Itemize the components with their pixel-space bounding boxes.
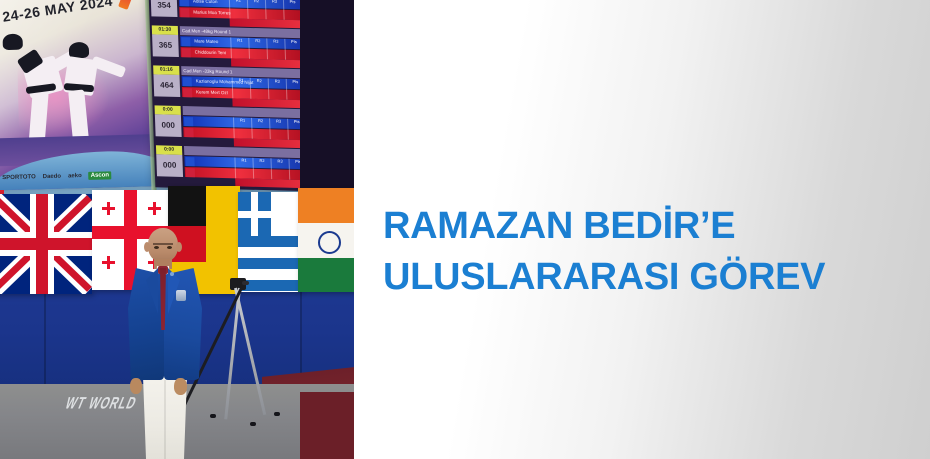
sponsor-logo: Ascon xyxy=(89,171,112,180)
camera-tripod xyxy=(212,280,292,432)
ear xyxy=(176,242,182,252)
headline-panel: RAMAZAN BEDİR’E ULUSLARARASI GÖREV xyxy=(354,0,930,459)
round-score-cells: R1 R2 R3 Pts xyxy=(233,117,306,140)
scoreboard-row: 0:00 000 R1 R2 R3 Pts xyxy=(153,105,307,149)
score-cell: R2 xyxy=(250,78,269,99)
round-score-cells: R1 R2 R3 Pts xyxy=(234,157,307,180)
scoreboard-match-column: 01:16 354 Cad.Men -58kg Round 1 Adise Cu… xyxy=(148,0,307,191)
sponsor-logo: Daedo xyxy=(43,174,61,180)
ear xyxy=(144,242,150,252)
score-cell: R3 xyxy=(266,38,285,59)
score-cell: R1 xyxy=(232,77,251,98)
eyes xyxy=(154,246,172,249)
screen-dark-surround xyxy=(300,0,354,196)
sponsor-logo: aeko xyxy=(68,173,82,179)
page-title: RAMAZAN BEDİR’E ULUSLARARASI GÖREV xyxy=(383,201,903,303)
lapel-pin-icon xyxy=(170,272,174,276)
brow xyxy=(153,243,173,245)
news-card: KWONDO GAMES 24-26 MAY 2024 xyxy=(0,0,930,459)
head xyxy=(148,228,178,262)
scoreboard-row: 01:30 365 Cad.Men -48kg Round 1 Mare Mat… xyxy=(150,25,304,69)
red-flag-icon xyxy=(183,88,192,97)
scoreboard-row: 01:16 464 Cad.Men -33kg Round 1 Kazianog… xyxy=(151,65,305,109)
scoreboard-row: 0:00 000 R1 R2 R3 Pts xyxy=(154,145,308,189)
score-cell: Pts xyxy=(283,0,302,20)
taekwondo-hall-photo: KWONDO GAMES 24-26 MAY 2024 xyxy=(0,0,354,459)
tripod-foot xyxy=(274,412,280,416)
blue-flag-icon xyxy=(181,37,190,46)
tripod-knob xyxy=(242,281,249,285)
match-number: 000 xyxy=(155,114,182,137)
blue-flag-icon xyxy=(185,157,194,166)
trouser-seam xyxy=(164,380,166,459)
score-cell: R3 xyxy=(265,0,284,20)
match-number: 365 xyxy=(152,34,179,57)
score-cell: R1 xyxy=(230,37,249,58)
blazer-crest-badge xyxy=(176,290,186,301)
red-flag-icon xyxy=(184,128,193,137)
man-in-blue-blazer xyxy=(118,228,210,459)
score-cell: R2 xyxy=(248,38,267,59)
ashoka-chakra-icon xyxy=(318,231,341,254)
blazer-left-panel xyxy=(128,268,164,380)
red-flag-icon xyxy=(182,48,191,57)
red-flag-icon xyxy=(180,8,189,17)
tripod-foot xyxy=(210,414,216,418)
greece-flag xyxy=(238,192,300,292)
score-cell: R3 xyxy=(270,158,289,179)
score-cell: R1 xyxy=(234,157,253,178)
round-score-cells: R1 R2 R3 Pts xyxy=(232,77,305,100)
score-cell: R1 xyxy=(229,0,248,19)
match-number: 000 xyxy=(156,154,183,177)
score-cell: R2 xyxy=(251,118,270,139)
score-cell: R2 xyxy=(247,0,266,19)
headline-line-2: ULUSLARARASI GÖREV xyxy=(383,252,903,303)
round-score-cells: R1 R2 R3 Pts xyxy=(229,0,302,20)
tripod-foot xyxy=(250,422,256,426)
headline-line-1: RAMAZAN BEDİR’E xyxy=(383,205,735,247)
india-flag xyxy=(298,188,354,292)
round-score-cells: R1 R2 R3 Pts xyxy=(230,37,303,60)
sponsor-logo: SPORTOTO xyxy=(2,174,36,181)
score-cell: R3 xyxy=(268,78,287,99)
blue-flag-icon xyxy=(183,77,192,86)
score-cell: R3 xyxy=(269,118,288,139)
blue-flag-icon xyxy=(184,117,193,126)
blue-flag-icon xyxy=(180,0,189,6)
floor-maroon-mat xyxy=(300,392,354,459)
united-kingdom-flag xyxy=(0,194,92,294)
score-cell: R2 xyxy=(252,158,271,179)
score-cell: R1 xyxy=(233,117,252,138)
hand xyxy=(130,378,142,394)
hand xyxy=(174,378,187,395)
match-number: 464 xyxy=(153,74,180,97)
match-number: 354 xyxy=(151,0,178,17)
red-flag-icon xyxy=(186,168,195,177)
